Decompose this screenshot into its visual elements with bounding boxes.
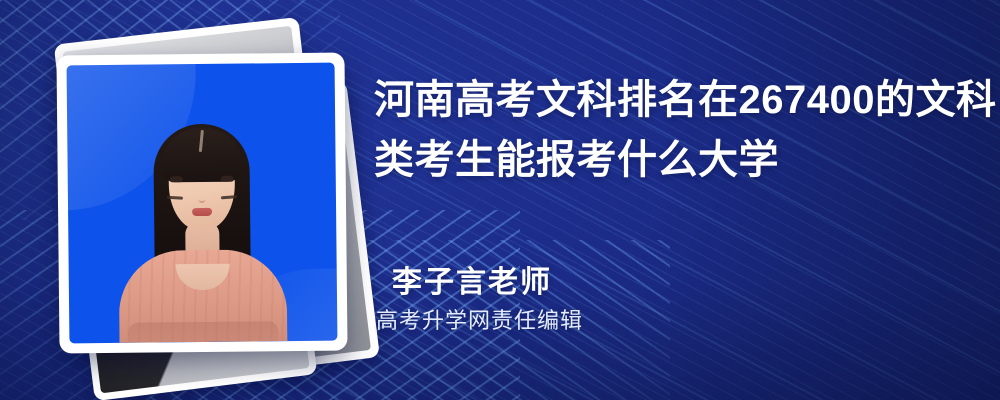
photo-card-stack bbox=[46, 18, 366, 382]
portrait-nose bbox=[198, 192, 205, 203]
author-photo bbox=[67, 63, 338, 344]
portrait-eye-right bbox=[221, 176, 234, 182]
portrait-mouth bbox=[192, 208, 212, 216]
author-info: 李子言老师 高考升学网责任编辑 bbox=[374, 262, 583, 338]
portrait-illustration bbox=[115, 109, 289, 343]
headline-line-2: 类考生能报考什么大学 bbox=[374, 130, 970, 190]
article-cover-banner: 河南高考文科排名在267400的文科 类考生能报考什么大学 李子言老师 高考升学… bbox=[0, 0, 1000, 400]
portrait-eye-left bbox=[170, 176, 183, 182]
portrait-dress-waist bbox=[128, 321, 278, 343]
headline-line-1: 河南高考文科排名在267400的文科 bbox=[374, 70, 970, 130]
author-photo-card bbox=[56, 53, 347, 354]
author-role: 高考升学网责任编辑 bbox=[374, 304, 583, 338]
author-name: 李子言老师 bbox=[374, 262, 583, 304]
headline: 河南高考文科排名在267400的文科 类考生能报考什么大学 bbox=[374, 70, 970, 190]
